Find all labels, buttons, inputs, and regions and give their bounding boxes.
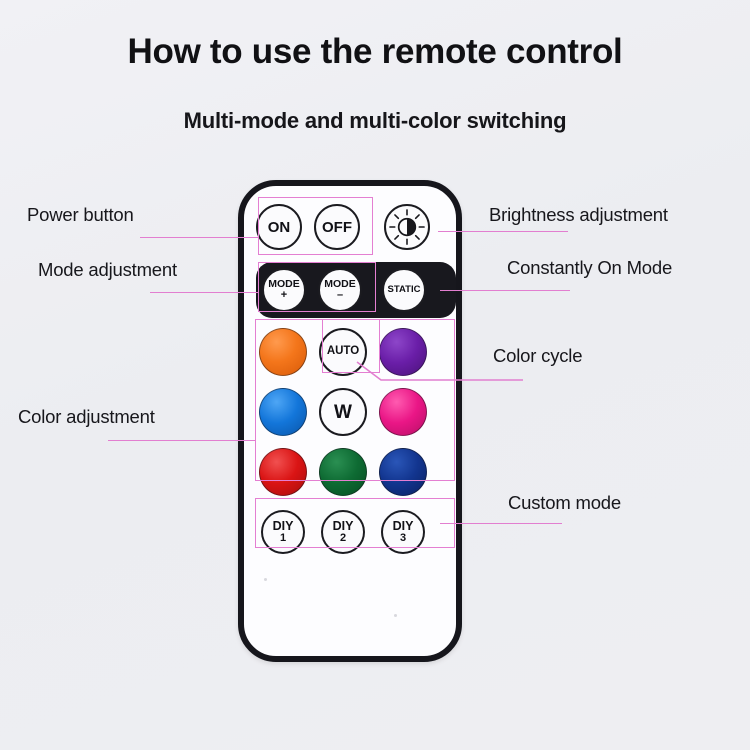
callout-custom-mode: Custom mode [508, 492, 621, 514]
diy-1-number: 1 [280, 533, 286, 544]
static-label: STATIC [388, 285, 421, 295]
mode-plus-sub: + [281, 290, 287, 301]
white-button[interactable]: W [319, 388, 367, 436]
brightness-button[interactable] [384, 204, 430, 250]
mode-plus-button[interactable]: MODE + [262, 268, 306, 312]
mode-minus-button[interactable]: MODE – [318, 268, 362, 312]
white-label: W [334, 403, 352, 422]
connector-brightness-adjustment [438, 231, 568, 232]
callout-mode-adjustment: Mode adjustment [38, 259, 177, 281]
color-red-button[interactable] [259, 448, 307, 496]
off-button-label: OFF [322, 220, 352, 235]
diy-3-number: 3 [400, 533, 406, 544]
callout-constantly-on-mode: Constantly On Mode [507, 257, 672, 279]
page-stage: How to use the remote control Multi-mode… [0, 0, 750, 750]
callout-color-adjustment: Color adjustment [18, 406, 155, 428]
color-green-button[interactable] [319, 448, 367, 496]
mode-minus-label: MODE [324, 279, 356, 290]
connector-custom-mode [440, 523, 562, 524]
diy-2-label: DIY [333, 520, 354, 533]
color-blue-button[interactable] [259, 388, 307, 436]
diy-2-number: 2 [340, 533, 346, 544]
page-title: How to use the remote control [0, 32, 750, 72]
page-subtitle: Multi-mode and multi-color switching [0, 108, 750, 134]
brightness-icon [384, 206, 430, 248]
on-button-label: ON [268, 220, 291, 235]
auto-label: AUTO [327, 346, 359, 358]
color-orange-button[interactable] [259, 328, 307, 376]
color-navy-button[interactable] [379, 448, 427, 496]
diy-1-label: DIY [273, 520, 294, 533]
mode-plus-label: MODE [268, 279, 300, 290]
diy-row: DIY 1 DIY 2 DIY 3 [261, 510, 456, 554]
mode-minus-sub: – [337, 290, 343, 301]
callout-brightness-adjustment: Brightness adjustment [489, 204, 668, 226]
diy-2-button[interactable]: DIY 2 [321, 510, 365, 554]
power-row: ON OFF [256, 204, 456, 250]
remote-control-body: ON OFF [238, 180, 462, 662]
color-row-2: W [259, 388, 454, 436]
diy-1-button[interactable]: DIY 1 [261, 510, 305, 554]
diy-3-label: DIY [393, 520, 414, 533]
color-magenta-button[interactable] [379, 388, 427, 436]
connector-color-adjustment [108, 440, 256, 441]
connector-power-button [140, 237, 258, 238]
body-speck [394, 614, 397, 617]
mode-row: MODE + MODE – STATIC [262, 268, 452, 312]
diy-3-button[interactable]: DIY 3 [381, 510, 425, 554]
off-button[interactable]: OFF [314, 204, 360, 250]
connector-constantly-on-mode [440, 290, 570, 291]
static-button[interactable]: STATIC [382, 268, 426, 312]
on-button[interactable]: ON [256, 204, 302, 250]
connector-mode-adjustment [150, 292, 258, 293]
callout-color-cycle: Color cycle [493, 345, 582, 367]
body-speck [264, 578, 267, 581]
color-row-3 [259, 448, 454, 496]
callout-power-button: Power button [27, 204, 134, 226]
